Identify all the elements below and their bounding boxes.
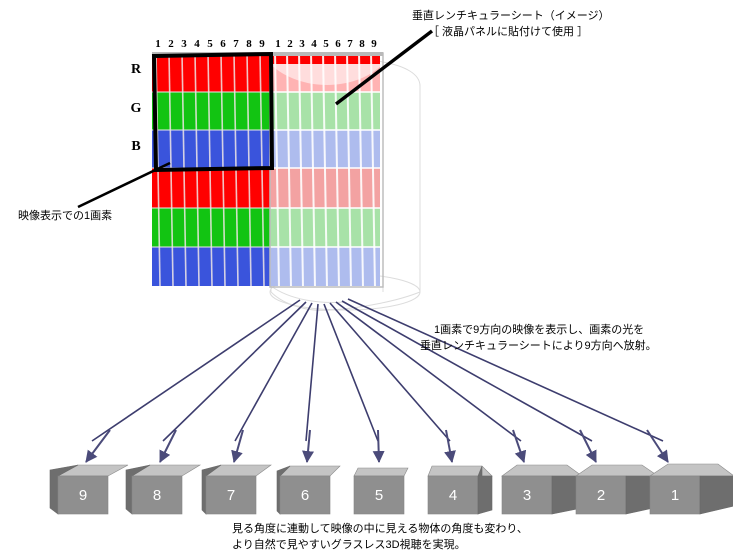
view-cube-7: 7 <box>202 465 271 514</box>
view-cube-6: 6 <box>277 466 340 514</box>
emission-caption-line1: 1画素で9方向の映像を表示し、画素の光を <box>434 322 644 338</box>
view-cube-3: 3 <box>502 465 582 514</box>
cube-label-5: 5 <box>375 487 383 504</box>
col-num-r-1: 1 <box>272 38 284 50</box>
col-num-l-7: 7 <box>230 38 242 50</box>
view-cube-1: 1 <box>650 464 733 514</box>
cube-label-3: 3 <box>523 487 531 504</box>
col-num-l-3: 3 <box>178 38 190 50</box>
col-num-r-4: 4 <box>308 38 320 50</box>
col-num-l-5: 5 <box>204 38 216 50</box>
cube-label-1: 1 <box>671 487 679 504</box>
view-cube-2: 2 <box>576 465 658 514</box>
col-num-l-2: 2 <box>165 38 177 50</box>
view-cube-5: 5 <box>354 468 408 514</box>
col-num-l-1: 1 <box>152 38 164 50</box>
pixel-panel-under-sheet <box>270 52 384 288</box>
cube-label-4: 4 <box>449 487 457 504</box>
view-cube-9: 9 <box>50 465 128 514</box>
panel-top-strip <box>270 52 383 56</box>
cube-label-6: 6 <box>301 487 309 504</box>
cube-label-2: 2 <box>597 487 605 504</box>
col-num-r-7: 7 <box>344 38 356 50</box>
view-cube-8: 8 <box>126 465 200 514</box>
band-label-b: B <box>128 139 144 155</box>
bottom-caption-line1: 見る角度に連動して映像の中に見える物体の角度も変わり、 <box>232 521 528 537</box>
col-num-r-8: 8 <box>356 38 368 50</box>
emission-caption-line2: 垂直レンチキュラーシートにより9方向へ放射。 <box>420 338 657 354</box>
diagram-artwork: 9 8 7 6 5 <box>0 0 733 559</box>
cube-label-9: 9 <box>79 487 87 504</box>
col-num-l-9: 9 <box>256 38 268 50</box>
col-num-l-4: 4 <box>191 38 203 50</box>
col-num-r-5: 5 <box>320 38 332 50</box>
col-num-r-9: 9 <box>368 38 380 50</box>
col-num-l-6: 6 <box>217 38 229 50</box>
band-label-g: G <box>128 101 144 117</box>
one-pixel-label: 映像表示での1画素 <box>18 208 112 224</box>
view-cube-4: 4 <box>428 466 492 514</box>
col-num-r-2: 2 <box>284 38 296 50</box>
col-num-r-3: 3 <box>296 38 308 50</box>
lenticular-title-line2: ［ 液晶パネルに貼付けて使用 ］ <box>428 24 588 40</box>
col-num-l-8: 8 <box>243 38 255 50</box>
diagram-canvas: 9 8 7 6 5 <box>0 0 733 559</box>
col-num-r-6: 6 <box>332 38 344 50</box>
band-label-r: R <box>128 62 144 78</box>
lenticular-title-line1: 垂直レンチキュラーシート（イメージ） <box>412 8 610 24</box>
cube-label-7: 7 <box>227 487 235 504</box>
light-rays <box>92 299 663 441</box>
cube-label-8: 8 <box>153 487 161 504</box>
bottom-caption-line2: より自然で見やすいグラスレス3D視聴を実現。 <box>232 537 466 553</box>
